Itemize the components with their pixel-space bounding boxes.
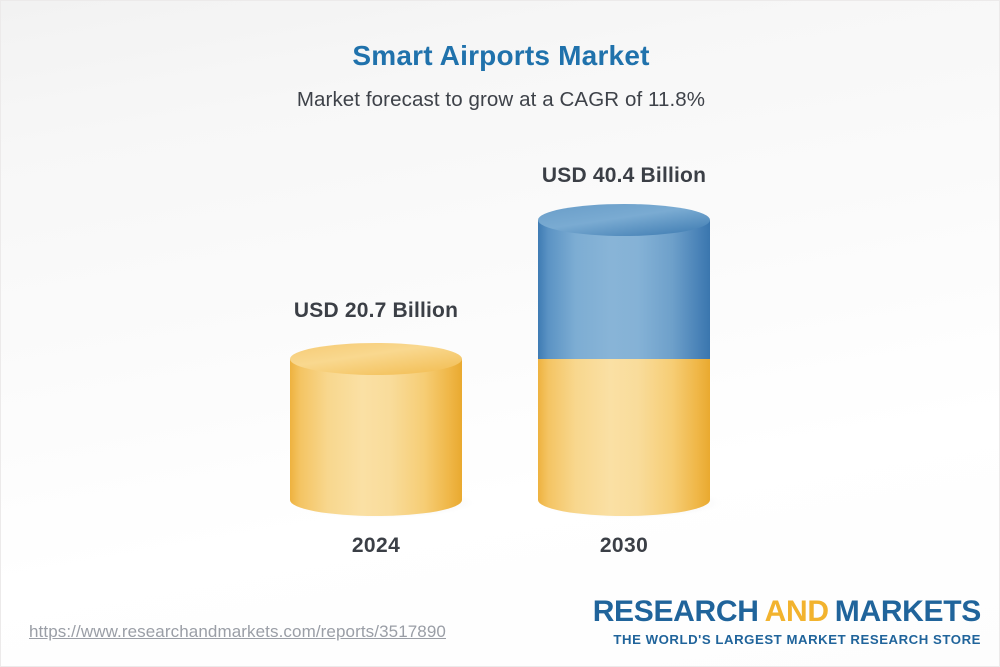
logo-word-research: RESEARCH: [593, 595, 759, 628]
logo-wordmark: RESEARCHANDMARKETS: [593, 597, 981, 627]
chart-plot-area: USD 20.7 Billion: [1, 1, 1000, 667]
value-label-2024: USD 20.7 Billion: [216, 299, 536, 323]
cylinder-2024: [290, 343, 462, 519]
logo-tagline: THE WORLD'S LARGEST MARKET RESEARCH STOR…: [593, 633, 981, 646]
infographic-canvas: Smart Airports Market Market forecast to…: [0, 0, 1000, 667]
report-url-link[interactable]: https://www.researchandmarkets.com/repor…: [29, 622, 446, 642]
research-and-markets-logo[interactable]: RESEARCHANDMARKETS THE WORLD'S LARGEST M…: [593, 597, 981, 646]
cylinder-2030: [538, 204, 710, 519]
category-label-2030: 2030: [464, 534, 784, 558]
logo-word-and: AND: [765, 595, 829, 628]
value-label-2030: USD 40.4 Billion: [464, 164, 784, 188]
logo-word-markets: MARKETS: [835, 595, 981, 628]
